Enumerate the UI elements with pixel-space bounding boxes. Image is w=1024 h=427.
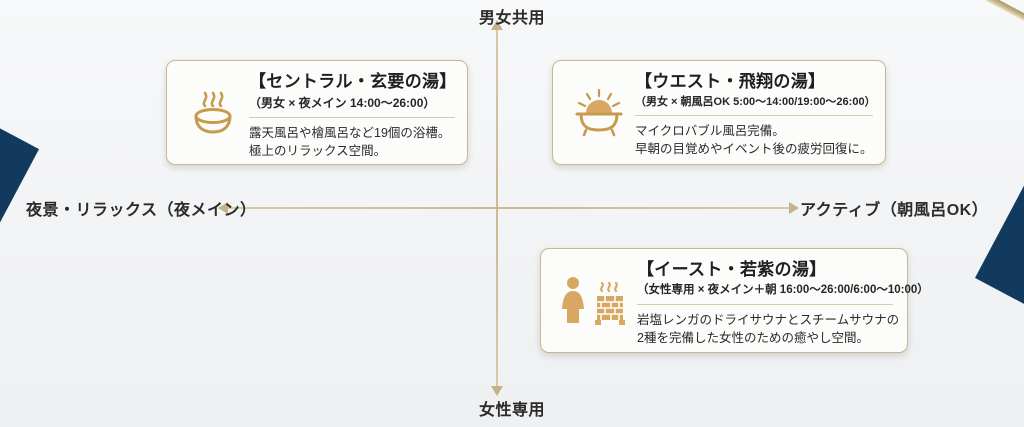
- woman-sauna-icon: [551, 275, 637, 327]
- card-subtitle: （女性専用 × 夜メイン＋朝 16:00〜26:00/6:00〜10:00）: [637, 282, 893, 299]
- card-title: 【イースト・若紫の湯】: [637, 260, 893, 280]
- axis-label-left: 夜景・リラックス（夜メイン）: [26, 196, 257, 220]
- card-description-line-2: 早朝の目覚めやイベント後の疲労回復に。: [635, 140, 873, 158]
- card-description: マイクロバブル風呂完備。 早朝の目覚めやイベント後の疲労回復に。: [635, 122, 873, 158]
- card-divider: [635, 115, 873, 116]
- card-central[interactable]: 【セントラル・玄要の湯】 （男女 × 夜メイン 14:00〜26:00） 露天風…: [166, 60, 468, 165]
- card-west[interactable]: 【ウエスト・飛翔の湯】 （男女 × 朝風呂OK 5:00〜14:00/19:00…: [552, 60, 886, 165]
- arrow-down-icon: [491, 386, 503, 396]
- card-subtitle: （男女 × 夜メイン 14:00〜26:00）: [249, 94, 455, 112]
- onsen-hot-spring-icon: [177, 89, 249, 137]
- card-body: 【イースト・若紫の湯】 （女性専用 × 夜メイン＋朝 16:00〜26:00/6…: [637, 258, 893, 347]
- card-description-line-1: マイクロバブル風呂完備。: [635, 122, 873, 140]
- card-description-line-2: 2種を完備した女性のための癒やし空間。: [637, 329, 893, 347]
- card-body: 【セントラル・玄要の湯】 （男女 × 夜メイン 14:00〜26:00） 露天風…: [249, 70, 455, 160]
- axis-label-right: アクティブ（朝風呂OK）: [800, 196, 988, 220]
- card-description-line-2: 極上のリラックス空間。: [249, 142, 455, 160]
- card-description: 露天風呂や檜風呂など19個の浴槽。 極上のリラックス空間。: [249, 124, 455, 160]
- card-title: 【ウエスト・飛翔の湯】: [635, 72, 873, 92]
- sunrise-bathtub-icon: [563, 88, 635, 138]
- card-description: 岩塩レンガのドライサウナとスチームサウナの 2種を完備した女性のための癒やし空間…: [637, 311, 893, 347]
- card-east[interactable]: 【イースト・若紫の湯】 （女性専用 × 夜メイン＋朝 16:00〜26:00/6…: [540, 248, 908, 353]
- card-divider: [249, 117, 455, 118]
- arrow-right-icon: [789, 202, 799, 214]
- vertical-axis-line: [496, 28, 498, 388]
- axis-label-top: 男女共用: [0, 4, 1024, 28]
- card-title: 【セントラル・玄要の湯】: [249, 72, 455, 92]
- axis-label-bottom: 女性専用: [0, 396, 1024, 420]
- horizontal-axis-line: [226, 207, 796, 209]
- card-body: 【ウエスト・飛翔の湯】 （男女 × 朝風呂OK 5:00〜14:00/19:00…: [635, 70, 873, 158]
- card-subtitle: （男女 × 朝風呂OK 5:00〜14:00/19:00〜26:00）: [635, 94, 873, 111]
- card-description-line-1: 露天風呂や檜風呂など19個の浴槽。: [249, 124, 455, 142]
- card-divider: [637, 304, 893, 305]
- card-description-line-1: 岩塩レンガのドライサウナとスチームサウナの: [637, 311, 893, 329]
- diagram-canvas: 男女共用 女性専用 夜景・リラックス（夜メイン） アクティブ（朝風呂OK） 【セ…: [0, 0, 1024, 427]
